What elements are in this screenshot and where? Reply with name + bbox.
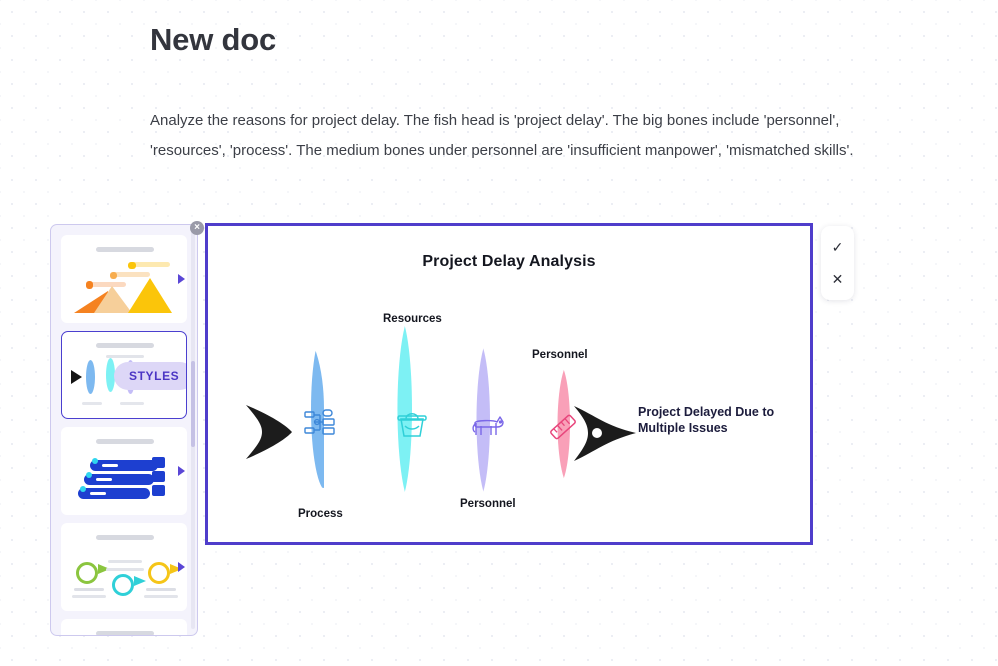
suggestion-actions-panel[interactable]: ✓ ✕ [821,226,854,300]
banner-shape [78,488,150,499]
style-thumbnail-fishbone[interactable]: STYLES [61,331,187,419]
thumbnail-chip [130,262,170,267]
thumbnail-scroller[interactable]: STYLES [51,231,197,635]
thumbnail-subtitle-placeholder [146,588,176,591]
thumbnail-chip [112,272,150,277]
accept-button[interactable]: ✓ [826,235,850,259]
bone-label-resources: Resources [383,313,442,325]
mini-caption [82,402,102,405]
thumbnail-title-placeholder [96,439,154,444]
diagram-title: Project Delay Analysis [208,253,810,271]
thumbnail-title-placeholder [96,631,154,635]
decorative-triangle [94,286,132,313]
banner-square-icon [152,457,165,468]
style-thumbnail-partial[interactable] [61,619,187,635]
sitemap-icon [304,409,338,439]
thumbnail-subtitle-placeholder [108,560,142,563]
style-thumbnail-teapot-icons[interactable] [61,523,187,611]
styles-panel-scrollbar[interactable] [191,231,195,629]
thumbnail-chip [110,272,117,279]
dog-icon [472,413,506,441]
thumbnail-subtitle-placeholder [106,355,144,358]
thumbnail-chip [128,262,136,269]
fish-tail-icon [240,401,296,463]
styles-panel-scrollbar-thumb[interactable] [191,361,195,447]
style-thumbnail-blue-banners[interactable] [61,427,187,515]
teapot-icon [148,562,170,584]
teapot-spout-icon [134,576,146,586]
fish-head-label: Project Delayed Due to Multiple Issues [638,404,808,436]
banner-line [90,492,106,495]
mini-fish-head-icon [71,370,82,384]
bucket-icon [396,408,428,440]
teapot-icon [112,574,134,596]
banner-line [102,464,118,467]
mini-bone [86,360,95,394]
reject-button[interactable]: ✕ [826,267,850,291]
thumbnail-title-placeholder [96,247,154,252]
thumbnail-title-placeholder [96,343,154,348]
page-title: New doc [150,22,276,58]
decorative-triangle [128,278,172,313]
thumbnail-subtitle-placeholder [74,588,104,591]
bone-label-personnel-upper: Personnel [532,349,588,361]
fishbone-diagram-canvas[interactable]: Project Delay Analysis Process Resources [205,223,813,545]
banner-line [96,478,112,481]
mini-caption [120,402,144,405]
document-body-text: Analyze the reasons for project delay. T… [150,106,856,166]
styles-panel[interactable]: STYLES [50,224,198,636]
teapot-icon [76,562,98,584]
banner-dot-icon [80,486,86,492]
banner-dot-icon [86,472,92,478]
style-thumbnail-orange-triangles[interactable] [61,235,187,323]
thumbnail-subtitle-placeholder [72,595,106,598]
ruler-icon [546,410,580,444]
banner-shape [90,460,158,471]
thumbnail-subtitle-placeholder [106,568,144,571]
banner-shape [84,474,154,485]
thumbnail-chip [86,281,93,289]
styles-tooltip: STYLES [114,362,187,390]
thumbnail-title-placeholder [96,535,154,540]
thumbnail-expand-arrow-icon[interactable] [178,562,185,572]
bone-label-process: Process [298,508,343,520]
thumbnail-expand-arrow-icon[interactable] [178,274,185,284]
banner-square-icon [152,471,165,482]
banner-dot-icon [92,458,98,464]
thumbnail-expand-arrow-icon[interactable] [178,466,185,476]
fish-head-icon [570,404,640,464]
close-icon[interactable]: × [190,221,204,235]
thumbnail-subtitle-placeholder [144,595,178,598]
banner-square-icon [152,485,165,496]
bone-label-personnel-lower: Personnel [460,498,516,510]
